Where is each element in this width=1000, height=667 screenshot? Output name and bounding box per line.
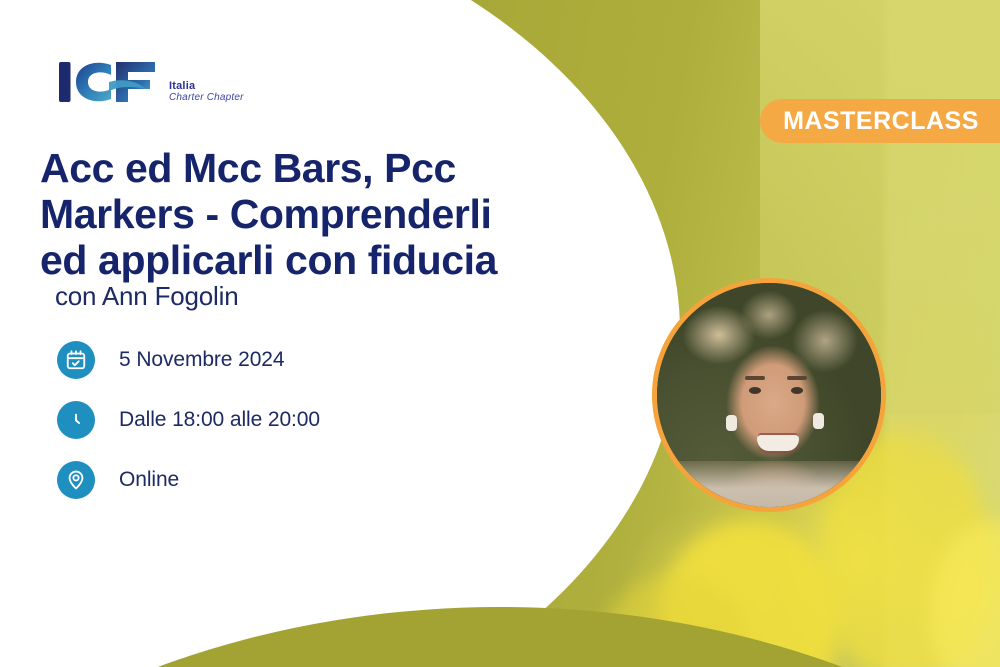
speaker-portrait-image (657, 283, 881, 507)
icf-logo: Italia Charter Chapter (57, 58, 244, 106)
portrait-feature (791, 387, 803, 394)
masterclass-poster: MASTERCLASS Italia (0, 0, 1000, 667)
portrait-feature (813, 413, 824, 429)
event-time-text: Dalle 18:00 alle 20:00 (119, 408, 320, 432)
event-detail-date: 5 Novembre 2024 (57, 341, 320, 379)
portrait-feature (787, 376, 807, 380)
calendar-icon (57, 341, 95, 379)
headline-line-1: Acc ed Mcc Bars, Pcc (40, 146, 640, 192)
photo-blur-blob (880, 300, 990, 460)
clock-icon (57, 401, 95, 439)
headline-line-2: Markers - Comprenderli (40, 192, 640, 238)
icf-logo-wordmark: Italia Charter Chapter (169, 80, 244, 107)
poster-subtitle: con Ann Fogolin (55, 281, 238, 312)
portrait-feature (757, 435, 799, 451)
portrait-feature (749, 387, 761, 394)
portrait-feature (657, 461, 881, 507)
portrait-feature (726, 415, 737, 431)
icf-logo-icon (57, 58, 160, 106)
masterclass-badge-label: MASTERCLASS (783, 107, 979, 136)
event-location-text: Online (119, 468, 179, 492)
poster-headline: Acc ed Mcc Bars, Pcc Markers - Comprende… (40, 146, 640, 284)
masterclass-badge: MASTERCLASS (760, 99, 1000, 143)
portrait-feature (745, 376, 765, 380)
icf-logo-charter-chapter: Charter Chapter (169, 92, 244, 103)
speaker-portrait (652, 278, 886, 512)
icf-logo-italia: Italia (169, 80, 244, 92)
event-detail-location: Online (57, 461, 320, 499)
location-pin-icon (57, 461, 95, 499)
event-date-text: 5 Novembre 2024 (119, 348, 284, 372)
headline-line-3: ed applicarli con fiducia (40, 238, 640, 284)
event-detail-time: Dalle 18:00 alle 20:00 (57, 401, 320, 439)
event-details-list: 5 Novembre 2024 Dalle 18:00 alle 20:00 O… (57, 341, 320, 499)
